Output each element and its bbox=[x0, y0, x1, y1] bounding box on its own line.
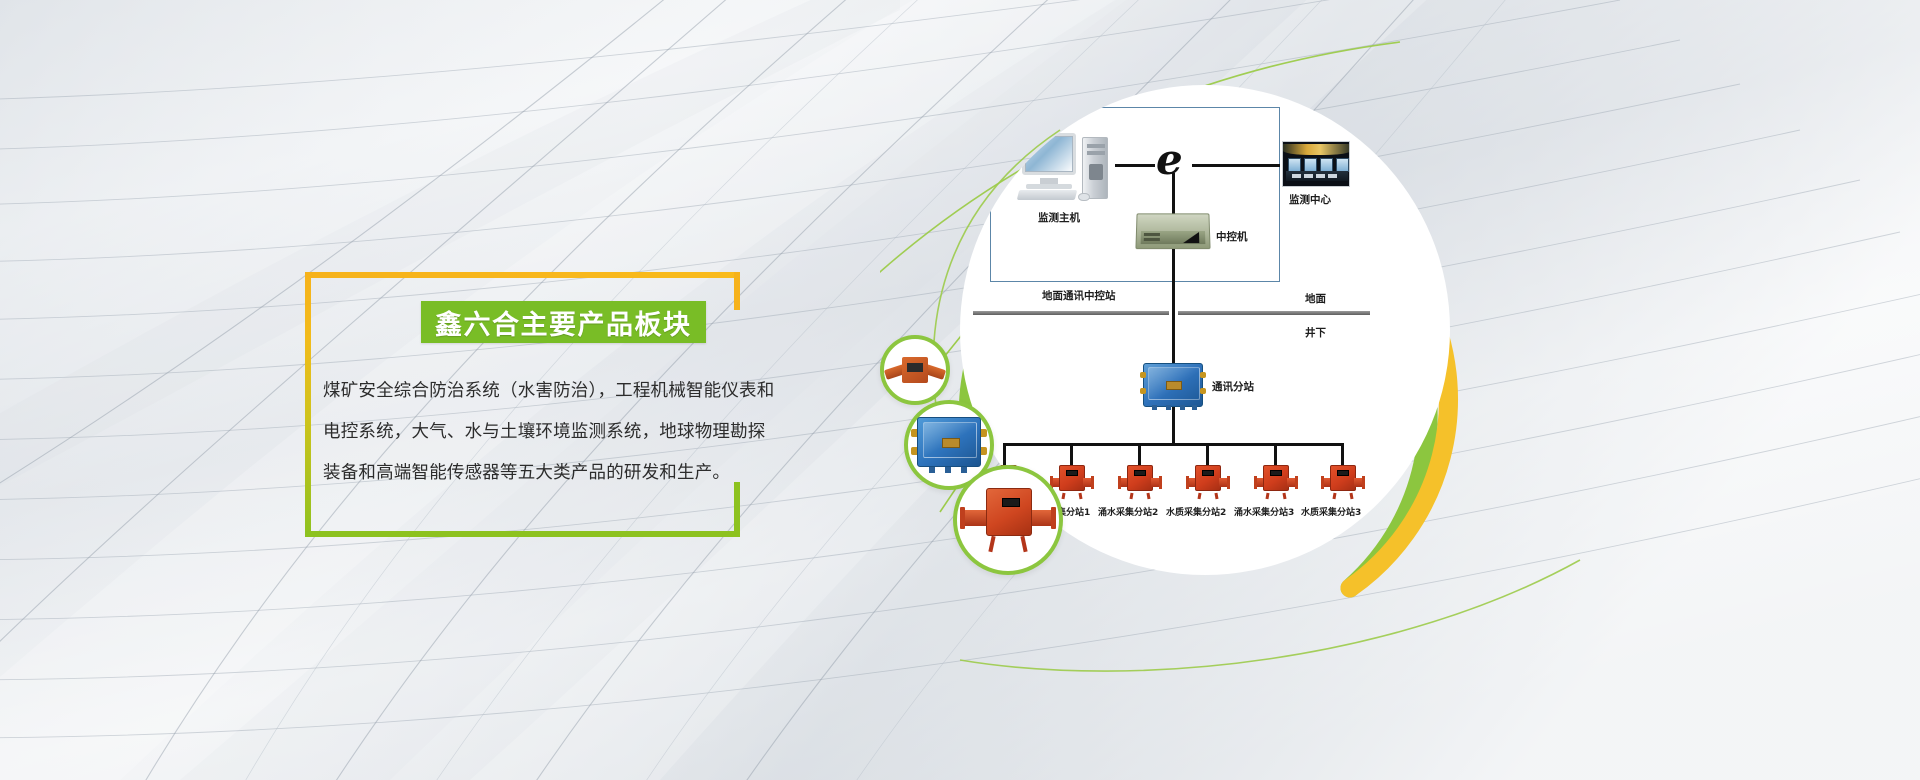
collector-icon-5 bbox=[1254, 465, 1298, 495]
wire-collector-bus bbox=[1003, 443, 1343, 446]
label-monitor-host: 监测主机 bbox=[1038, 210, 1080, 225]
label-collector-3: 涌水采集分站2 bbox=[1098, 505, 1158, 518]
label-collector-4: 水质采集分站2 bbox=[1166, 505, 1226, 518]
red-collector-station-icon bbox=[960, 488, 1056, 552]
hero-description: 煤矿安全综合防治系统（水害防治），工程机械智能仪表和电控系统，大气、水与土壤环境… bbox=[323, 371, 778, 494]
wire-substation-drop bbox=[1172, 407, 1175, 445]
ground-line-left bbox=[973, 311, 1169, 315]
label-comm-substation: 通讯分站 bbox=[1212, 379, 1254, 394]
control-host-icon bbox=[1135, 213, 1210, 249]
collector-icon-4 bbox=[1186, 465, 1230, 495]
frame-bottom-border bbox=[305, 531, 740, 537]
monitor-center-photo bbox=[1282, 141, 1350, 187]
wire-branch-5 bbox=[1274, 443, 1277, 465]
product-bubble-red-collector[interactable] bbox=[953, 465, 1063, 575]
collector-icon-3 bbox=[1118, 465, 1162, 495]
hero-text-panel: 鑫六合主要产品板块 煤矿安全综合防治系统（水害防治），工程机械智能仪表和电控系统… bbox=[305, 272, 740, 537]
thin-green-curve-bottom bbox=[960, 560, 1580, 671]
monitor-host-icon bbox=[1022, 133, 1114, 203]
diagram-composition: 监测主机 e 中控机 bbox=[880, 0, 1920, 780]
wire-branch-6 bbox=[1341, 443, 1344, 465]
frame-right-top-segment bbox=[734, 272, 740, 310]
page-title: 鑫六合主要产品板块 bbox=[435, 303, 692, 342]
collector-icon-6 bbox=[1321, 465, 1365, 495]
product-bubble-sensor-unit[interactable] bbox=[880, 335, 950, 405]
label-monitor-center: 监测中心 bbox=[1289, 192, 1331, 207]
wire-internet-to-center bbox=[1192, 164, 1280, 167]
wire-host-to-internet bbox=[1115, 164, 1155, 167]
label-surface-level: 地面 bbox=[1305, 291, 1326, 306]
label-collector-5: 涌水采集分站3 bbox=[1234, 505, 1294, 518]
ground-line-right bbox=[1178, 311, 1370, 315]
frame-top-border bbox=[305, 272, 740, 278]
wire-internet-to-control bbox=[1172, 173, 1175, 215]
frame-left-border bbox=[305, 272, 311, 537]
wire-branch-2 bbox=[1070, 443, 1073, 465]
collector-icon-2 bbox=[1050, 465, 1094, 495]
sensor-unit-icon bbox=[887, 355, 943, 385]
label-collector-6: 水质采集分站3 bbox=[1301, 505, 1361, 518]
wire-control-to-substation bbox=[1172, 249, 1175, 365]
wire-branch-4 bbox=[1206, 443, 1209, 465]
wire-branch-1 bbox=[1003, 443, 1006, 465]
label-control-host: 中控机 bbox=[1216, 229, 1248, 244]
wire-branch-3 bbox=[1138, 443, 1141, 465]
comm-substation-icon bbox=[1143, 363, 1203, 407]
label-surface-station: 地面通讯中控站 bbox=[1042, 288, 1116, 303]
blue-junction-box-icon bbox=[911, 417, 987, 473]
internet-cloud-icon: e bbox=[1156, 139, 1183, 181]
label-underground-level: 井下 bbox=[1305, 325, 1326, 340]
section-title-banner: 鑫六合主要产品板块 bbox=[421, 301, 706, 343]
